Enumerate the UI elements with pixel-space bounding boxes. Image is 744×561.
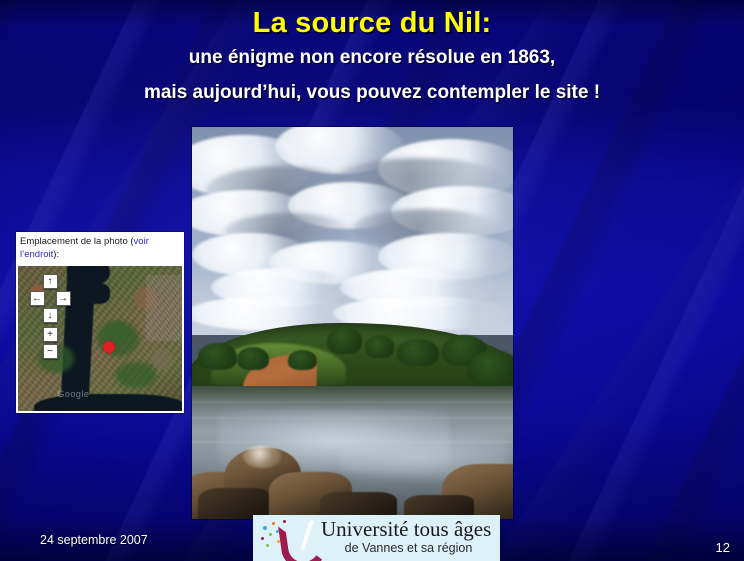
logo-dot [283,520,286,523]
location-marker-icon[interactable] [103,341,115,353]
university-logo: Université tous âges de Vannes et sa rég… [253,515,500,561]
marker-head [103,341,115,353]
photo-tree [365,335,394,359]
map-vegetation [116,362,155,388]
slide-title: La source du Nil: [0,6,744,40]
map-watermark: Google [57,389,89,399]
photo-tree [198,343,237,370]
map-navigation-controls[interactable]: ↑ ← → ↓ + − [26,274,74,361]
map-caption-prefix: Emplacement de la photo ( [20,236,134,247]
map-caption: Emplacement de la photo (voir l’endroit)… [16,232,184,266]
zoom-out-icon[interactable]: − [43,344,58,359]
logo-dot [276,530,279,533]
map-inset-panel[interactable]: Emplacement de la photo (voir l’endroit)… [16,232,184,413]
pan-left-icon[interactable]: ← [30,291,45,306]
logo-dot [269,533,272,536]
logo-line-2: de Vannes et sa région [321,541,496,556]
map-water-inlet [84,283,110,303]
satellite-map-image[interactable]: Google ↑ ← → ↓ + − [18,266,182,411]
pan-down-icon[interactable]: ↓ [43,308,58,323]
logo-line-1: Université tous âges [321,518,496,541]
logo-dot [277,540,280,543]
photo-tree [327,327,362,354]
zoom-in-icon[interactable]: + [43,327,58,342]
pan-up-icon[interactable]: ↑ [43,274,58,289]
photo-tree [288,350,317,370]
logo-dot [261,537,264,540]
presentation-slide: La source du Nil: une énigme non encore … [0,0,744,561]
photo-tree [468,350,513,385]
logo-dot [266,544,269,547]
logo-mark [259,518,321,558]
logo-dot [263,526,267,530]
map-urban-area [146,275,182,342]
pan-right-icon[interactable]: → [56,291,71,306]
map-caption-suffix: ): [53,249,59,260]
photo-tree [237,347,269,371]
nile-photograph [192,127,513,519]
slide-date: 24 septembre 2007 [40,533,148,547]
slide-subtitle-line-2: mais aujourd’hui, vous pouvez contempler… [0,81,744,104]
slide-subtitle-line-1: une énigme non encore résolue en 1863, [0,46,744,69]
water-ripple [192,401,513,403]
photo-tree [397,339,439,366]
slide-page-number: 12 [716,540,730,555]
logo-text: Université tous âges de Vannes et sa rég… [321,518,496,556]
logo-dot [272,522,275,525]
rock-highlight [243,445,282,469]
title-block: La source du Nil: une énigme non encore … [0,6,744,105]
